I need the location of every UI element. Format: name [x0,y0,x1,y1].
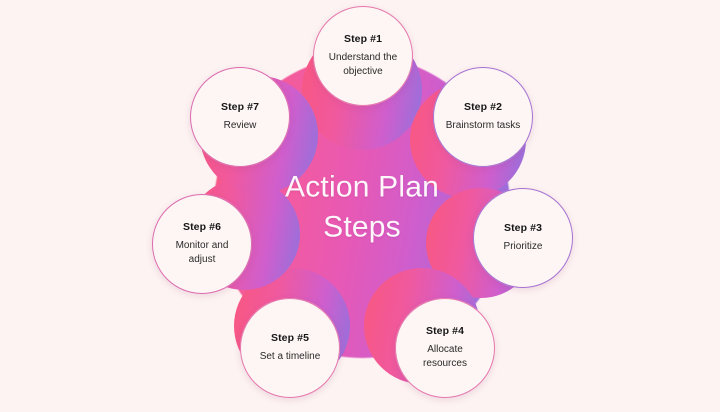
step-1-desc-line-2: objective [343,66,382,77]
step-3-description: Prioritize [504,240,543,254]
step-3-desc-line-1: Prioritize [504,241,543,252]
step-6-title: Step #6 [183,221,221,233]
step-7-description: Review [224,119,257,133]
step-2-description: Brainstorm tasks [446,119,520,133]
step-2-desc-line-1: Brainstorm tasks [446,120,520,131]
step-4-desc-line-1: Allocate [427,344,463,355]
step-5-description: Set a timeline [260,350,321,364]
hub-title-line-2: Steps [214,207,510,247]
step-4-title: Step #4 [426,325,464,337]
step-6-desc-line-1: Monitor and [176,240,229,251]
step-4-desc-line-2: resources [423,358,467,369]
step-6-desc-line-2: adjust [189,254,216,265]
step-5-title: Step #5 [271,332,309,344]
step-3-title: Step #3 [504,222,542,234]
step-1-title: Step #1 [344,33,382,45]
step-1-description: Understand theobjective [329,51,397,79]
hub-title: Action Plan Steps [214,167,510,246]
step-node-7[interactable]: Step #7 Review [190,67,290,167]
step-4-description: Allocateresources [423,343,467,371]
hub-title-line-1: Action Plan [285,170,439,203]
step-2-title: Step #2 [464,101,502,113]
step-node-5[interactable]: Step #5 Set a timeline [240,298,340,398]
step-1-desc-line-1: Understand the [329,52,397,63]
step-node-3[interactable]: Step #3 Prioritize [473,188,573,288]
step-node-1[interactable]: Step #1 Understand theobjective [313,6,413,106]
step-7-title: Step #7 [221,101,259,113]
step-node-2[interactable]: Step #2 Brainstorm tasks [433,67,533,167]
step-node-4[interactable]: Step #4 Allocateresources [395,298,495,398]
step-node-6[interactable]: Step #6 Monitor andadjust [152,194,252,294]
step-6-description: Monitor andadjust [176,239,229,267]
diagram-canvas: Action Plan Steps Step #1 Understand the… [0,0,720,412]
step-7-desc-line-1: Review [224,120,257,131]
step-5-desc-line-1: Set a timeline [260,351,321,362]
